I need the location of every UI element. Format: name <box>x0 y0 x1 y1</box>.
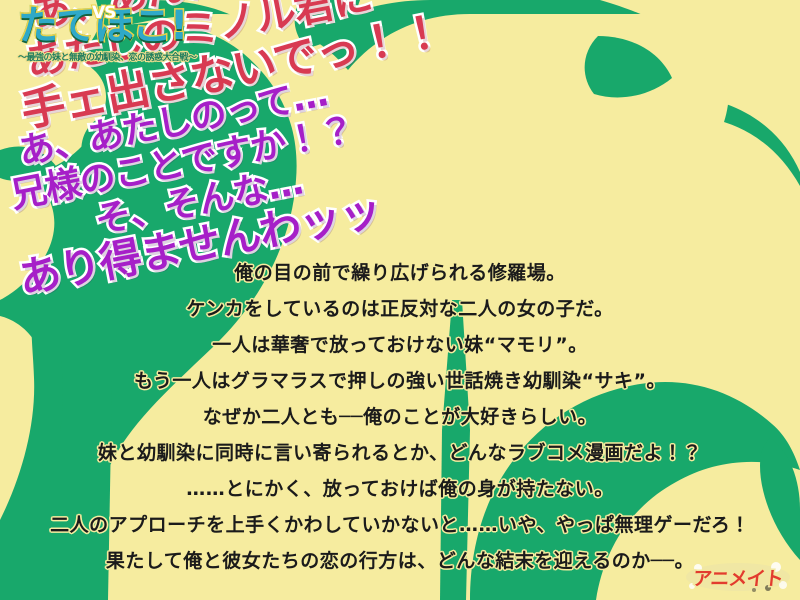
animate-watermark-logo[interactable]: アニメイト <box>684 560 792 594</box>
synopsis-line: ケンカをしているのは正反対な二人の女の子だ。 <box>0 294 800 321</box>
synopsis-line: 果たして俺と彼女たちの恋の行方は、どんな結末を迎えるのか──。 <box>0 546 800 573</box>
synopsis-line: もう一人はグラマラスで押しの強い世話焼き幼馴染“サキ”。 <box>0 366 800 393</box>
banner-canvas: たてほこ! VS ～最強の妹と無敵の幼馴染、恋の誘惑大合戦～ あ、あんた誰なのよ… <box>0 0 800 600</box>
logo-vs-badge: VS <box>92 6 115 21</box>
logo-text-left: たて <box>18 3 94 49</box>
synopsis-line: 俺の目の前で繰り広げられる修羅場。 <box>0 258 800 285</box>
logo-subtitle: ～最強の妹と無敵の幼馴染、恋の誘惑大合戦～ <box>18 50 197 63</box>
synopsis-line: 妹と幼馴染に同時に言い寄られるとか、どんなラブコメ漫画だよ！？ <box>0 438 800 465</box>
title-logo[interactable]: たてほこ! VS ～最強の妹と無敵の幼馴染、恋の誘惑大合戦～ <box>8 4 208 68</box>
synopsis-line: ……とにかく、放っておけば俺の身が持たない。 <box>0 474 800 501</box>
synopsis-line: 二人のアプローチを上手くかわしていかないと……いや、やっぱ無理ゲーだろ！ <box>0 510 800 537</box>
synopsis-line: 一人は華奢で放っておけない妹“マモリ”。 <box>0 330 800 357</box>
synopsis-line: なぜか二人とも──俺のことが大好きらしい。 <box>0 402 800 429</box>
watermark-label: アニメイト <box>692 564 784 591</box>
synopsis-block: 俺の目の前で繰り広げられる修羅場。 ケンカをしているのは正反対な二人の女の子だ。… <box>0 258 800 582</box>
